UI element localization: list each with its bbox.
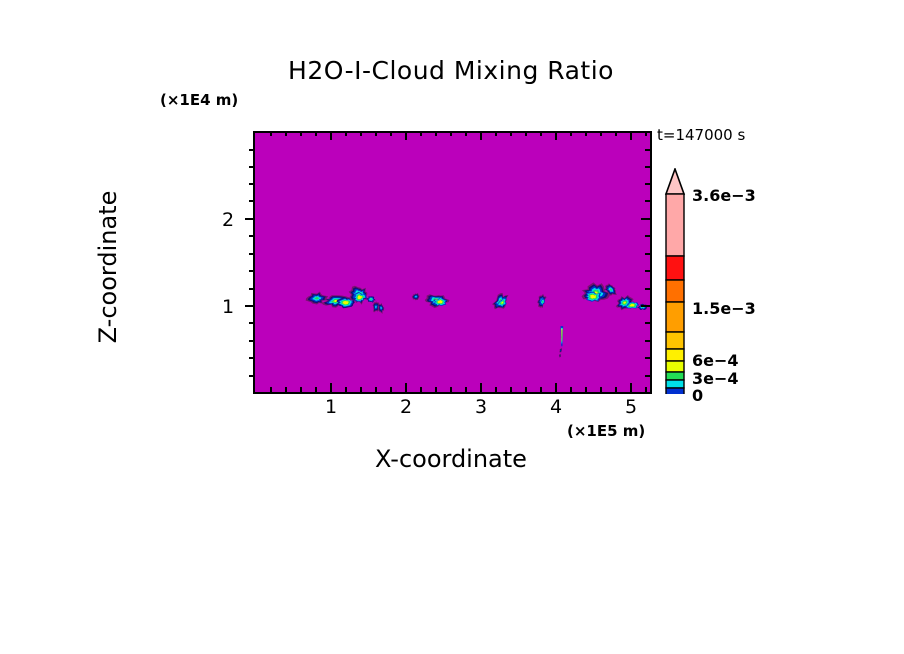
colorbar-band: [666, 388, 684, 394]
x-tick-top-major: [330, 131, 332, 140]
colorbar-band: [666, 194, 684, 256]
y-axis-title: Z-coordinate: [96, 137, 120, 397]
y-ticklabel: 2: [216, 209, 240, 231]
y-tick-right-minor: [645, 375, 651, 377]
x-tick-top-minor: [570, 131, 572, 136]
x-ticklabel: 4: [541, 396, 571, 418]
x-tick-top-minor: [540, 131, 542, 136]
x-tick-top-minor: [525, 131, 527, 136]
colorbar-band: [666, 349, 684, 361]
plot-area: [253, 131, 652, 394]
colorbar-label: 0: [692, 386, 703, 405]
x-tick-minor: [600, 387, 602, 392]
x-tick-minor: [510, 387, 512, 392]
y-tick-right-minor: [645, 270, 651, 272]
x-tick-minor: [525, 387, 527, 392]
y-tick-right-minor: [645, 253, 651, 255]
x-tick-minor: [495, 387, 497, 392]
x-tick-minor: [345, 387, 347, 392]
page-title: H2O-I-Cloud Mixing Ratio: [253, 58, 649, 83]
y-tick-right-major: [641, 305, 651, 307]
colorbar-label: 3.6e−3: [692, 186, 756, 205]
x-tick-minor: [375, 387, 377, 392]
x-tick-major: [405, 383, 407, 392]
x-tick-major: [630, 383, 632, 392]
y-tick-right-minor: [645, 183, 651, 185]
field-background: [255, 133, 650, 392]
x-tick-top-minor: [360, 131, 362, 136]
x-tick-top-minor: [450, 131, 452, 136]
y-tick-minor: [249, 375, 255, 377]
contour-field: [255, 133, 650, 392]
y-tick-minor: [249, 288, 255, 290]
y-tick-right-minor: [645, 357, 651, 359]
x-tick-top-minor: [465, 131, 467, 136]
colorbar-label: 6e−4: [692, 351, 739, 370]
x-tick-top-minor: [390, 131, 392, 136]
x-tick-top-major: [630, 131, 632, 140]
colorbar: [664, 168, 686, 394]
y-axis-unit-label: (×1E4 m): [160, 93, 238, 108]
x-tick-top-minor: [300, 131, 302, 136]
x-tick-minor: [390, 387, 392, 392]
colorbar-band: [666, 332, 684, 349]
x-tick-top-minor: [510, 131, 512, 136]
y-tick-major: [245, 218, 255, 220]
y-ticklabel: 1: [216, 296, 240, 318]
x-ticklabel: 5: [616, 396, 646, 418]
x-tick-minor: [570, 387, 572, 392]
colorbar-arrow-icon: [666, 169, 684, 194]
y-tick-right-minor: [645, 288, 651, 290]
x-tick-minor: [300, 387, 302, 392]
x-axis-unit-label: (×1E5 m): [567, 424, 645, 439]
colorbar-label: 1.5e−3: [692, 299, 756, 318]
y-tick-right-minor: [645, 235, 651, 237]
y-tick-right-major: [641, 218, 651, 220]
x-tick-top-major: [405, 131, 407, 140]
x-tick-top-minor: [420, 131, 422, 136]
x-tick-major: [330, 383, 332, 392]
y-tick-minor: [249, 149, 255, 151]
y-tick-minor: [249, 340, 255, 342]
x-ticklabel: 1: [316, 396, 346, 418]
x-tick-top-minor: [435, 131, 437, 136]
x-ticklabel: 3: [466, 396, 496, 418]
colorbar-band-group: [666, 169, 684, 394]
colorbar-band: [666, 380, 684, 388]
x-tick-minor: [645, 387, 647, 392]
x-tick-top-minor: [495, 131, 497, 136]
y-tick-minor: [249, 166, 255, 168]
x-tick-top-minor: [315, 131, 317, 136]
x-tick-minor: [435, 387, 437, 392]
x-tick-top-major: [555, 131, 557, 140]
x-tick-top-minor: [585, 131, 587, 136]
y-tick-minor: [249, 270, 255, 272]
x-tick-major: [480, 383, 482, 392]
y-tick-minor: [249, 183, 255, 185]
colorbar-band: [666, 302, 684, 332]
y-tick-major: [245, 305, 255, 307]
colorbar-band: [666, 280, 684, 302]
y-tick-minor: [249, 322, 255, 324]
x-tick-minor: [360, 387, 362, 392]
x-tick-top-major: [480, 131, 482, 140]
colorbar-swatches: [664, 168, 686, 394]
y-tick-minor: [249, 357, 255, 359]
figure-canvas: H2O-I-Cloud Mixing Ratio (×1E4 m) t=1470…: [0, 0, 904, 654]
time-annotation: t=147000 s: [657, 128, 745, 143]
x-tick-top-minor: [285, 131, 287, 136]
x-tick-minor: [465, 387, 467, 392]
y-tick-right-minor: [645, 322, 651, 324]
colorbar-band: [666, 372, 684, 380]
x-tick-top-minor: [600, 131, 602, 136]
y-tick-right-minor: [645, 340, 651, 342]
y-tick-right-minor: [645, 200, 651, 202]
x-tick-minor: [585, 387, 587, 392]
x-ticklabel: 2: [391, 396, 421, 418]
x-tick-top-minor: [345, 131, 347, 136]
x-tick-top-minor: [270, 131, 272, 136]
colorbar-band: [666, 256, 684, 280]
x-tick-minor: [450, 387, 452, 392]
x-tick-minor: [315, 387, 317, 392]
y-tick-minor: [249, 200, 255, 202]
x-tick-major: [555, 383, 557, 392]
x-tick-top-minor: [375, 131, 377, 136]
colorbar-band: [666, 361, 684, 372]
y-tick-right-minor: [645, 149, 651, 151]
x-axis-title: X-coordinate: [253, 447, 649, 471]
x-tick-top-minor: [645, 131, 647, 136]
x-tick-top-minor: [615, 131, 617, 136]
x-tick-minor: [420, 387, 422, 392]
y-tick-minor: [249, 235, 255, 237]
y-tick-right-minor: [645, 166, 651, 168]
y-tick-minor: [249, 253, 255, 255]
x-tick-minor: [285, 387, 287, 392]
x-tick-minor: [270, 387, 272, 392]
x-tick-minor: [540, 387, 542, 392]
x-tick-minor: [615, 387, 617, 392]
